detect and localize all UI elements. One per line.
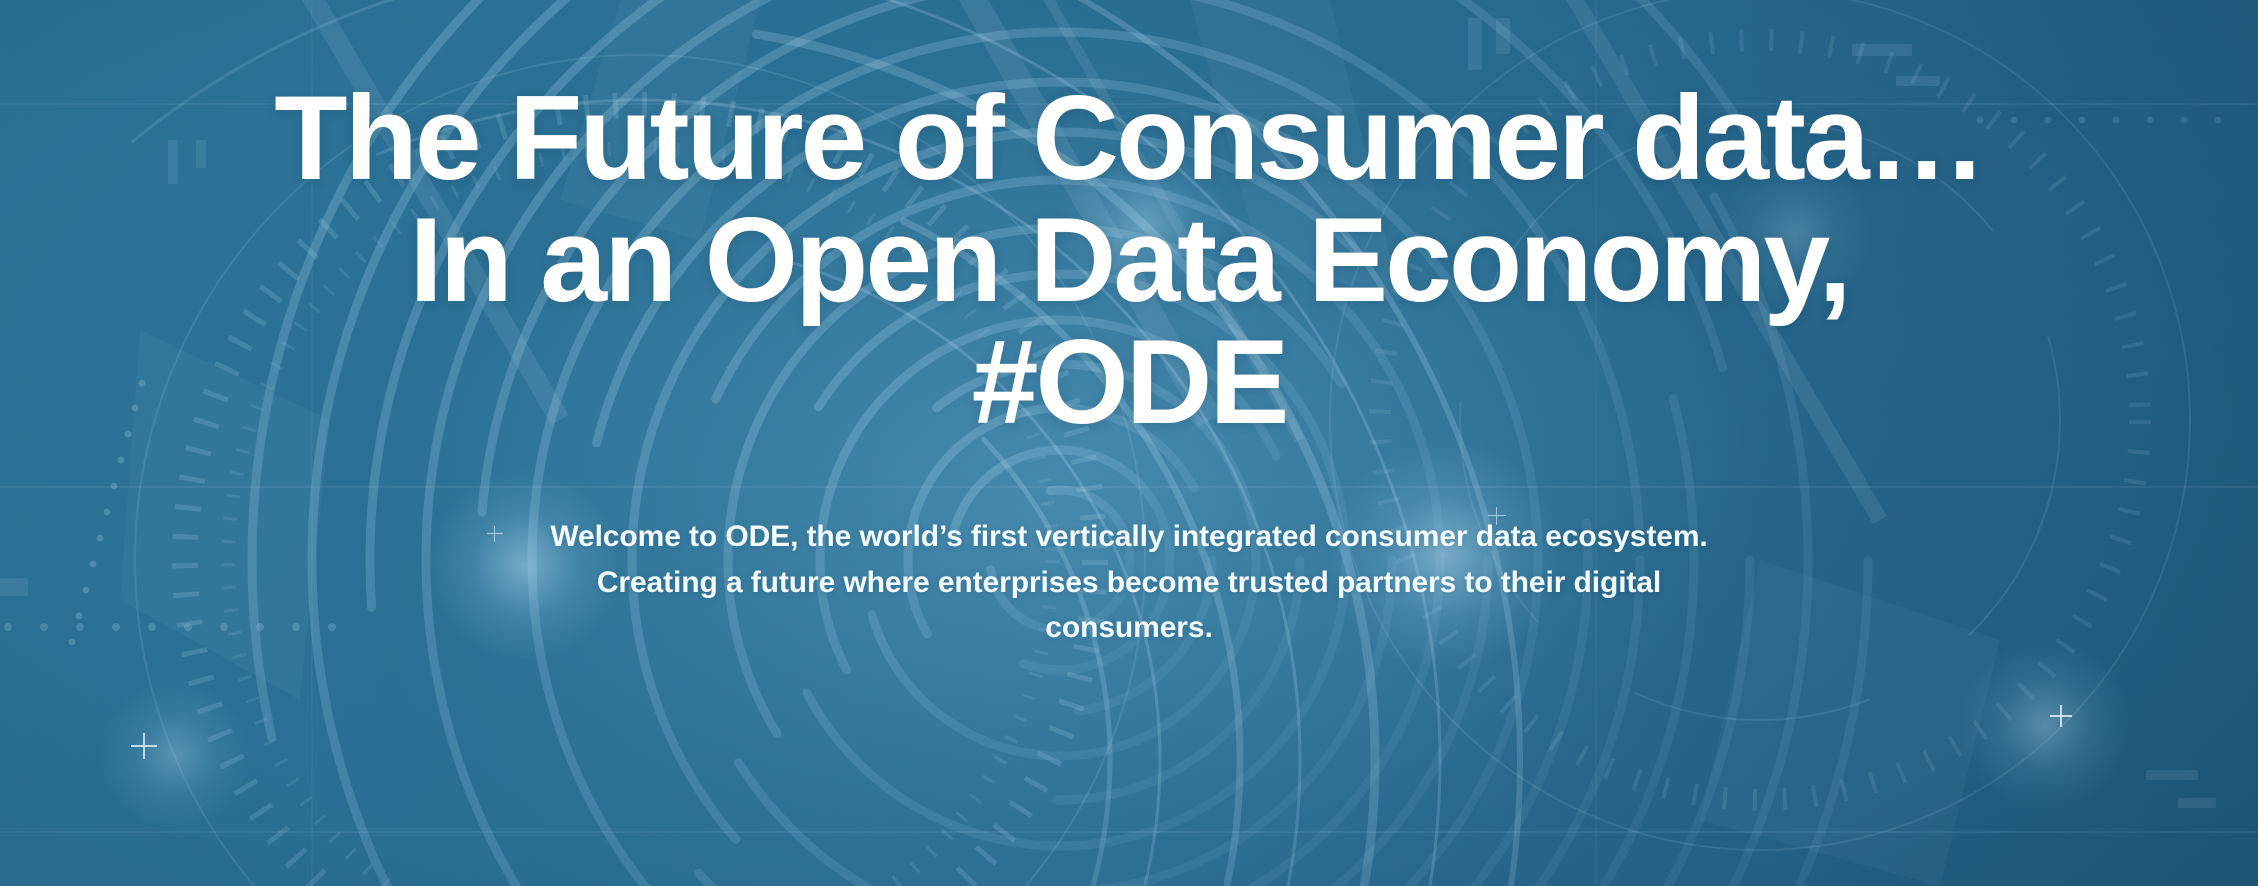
hero-content: The Future of Consumer data… In an Open … (0, 0, 2258, 886)
subtitle-line-2: Creating a future where enterprises beco… (529, 560, 1729, 606)
headline-line-3: #ODE (24, 322, 2234, 442)
subtitle-line-3: consumers. (529, 605, 1729, 651)
hero-subtitle: Welcome to ODE, the world’s first vertic… (529, 514, 1729, 651)
hero-banner: The Future of Consumer data… In an Open … (0, 0, 2258, 886)
subtitle-line-1: Welcome to ODE, the world’s first vertic… (529, 514, 1729, 560)
headline-line-1: The Future of Consumer data… (24, 78, 2234, 198)
page-title: The Future of Consumer data… In an Open … (24, 78, 2234, 442)
headline-line-2: In an Open Data Economy, (24, 200, 2234, 320)
